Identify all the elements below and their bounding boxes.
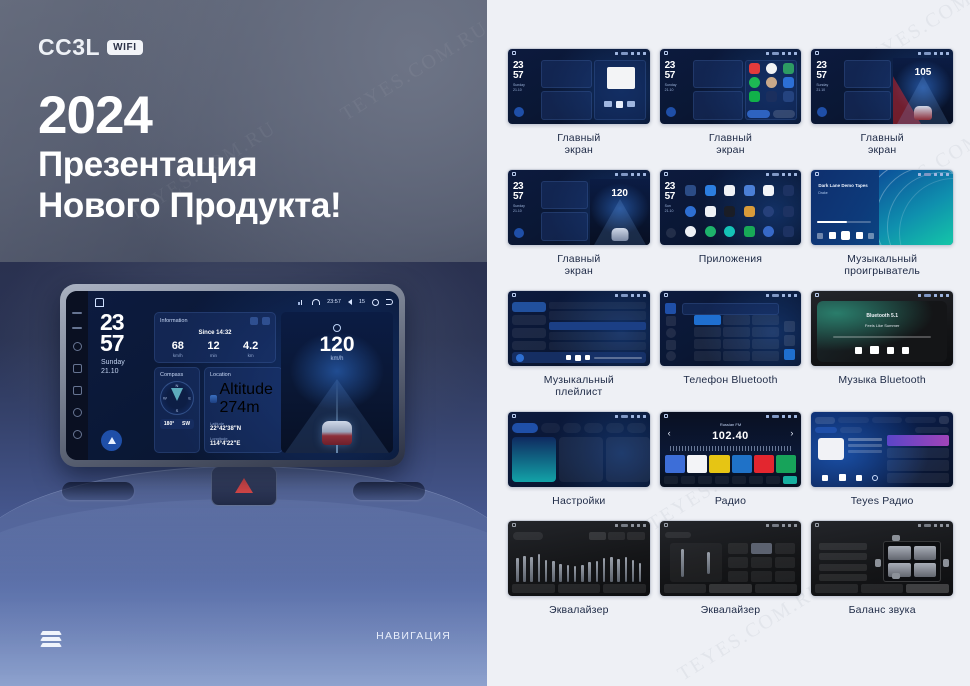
tab-fader[interactable] (709, 584, 752, 593)
dashboard-curve-secondary (0, 499, 487, 686)
headline-line2: Нового Продукта! (38, 185, 341, 226)
preset-2[interactable] (687, 455, 707, 473)
nav-genres[interactable] (838, 417, 869, 423)
gallery-item[interactable]: Эквалайзер (507, 520, 651, 629)
app-icon-clock[interactable] (705, 206, 716, 217)
list-item[interactable] (887, 460, 949, 471)
next-icon[interactable] (856, 232, 863, 239)
app-icon-extra3[interactable] (783, 226, 794, 237)
gallery-item[interactable]: Dark Lane Demo Tapes Drake Музыкальныйпр… (810, 169, 954, 290)
home-icon (664, 523, 668, 527)
key-8[interactable] (723, 339, 750, 349)
app-icon-google[interactable] (685, 226, 696, 237)
screen-thumbnail-settings[interactable] (507, 411, 651, 488)
preset-3[interactable] (709, 455, 729, 473)
next-icon[interactable] (902, 347, 909, 354)
thumbnail-caption: Музыка Bluetooth (838, 374, 926, 386)
thumbnail-caption: Музыкальныйплейлист (544, 374, 614, 398)
preset-6[interactable] (776, 455, 796, 473)
compass-title: Compass (160, 372, 194, 378)
search-tab-icon[interactable] (666, 328, 676, 338)
speed-value: 120 (281, 334, 393, 355)
fader-slider[interactable] (681, 549, 684, 576)
preset-button[interactable] (589, 532, 606, 540)
home-icon (664, 293, 668, 297)
information-widget[interactable]: Information Since 14:32 (154, 312, 276, 363)
status-bar: 23:57 15 (95, 296, 393, 308)
compass-dial: N S W E (160, 381, 194, 415)
app-icon-music-player[interactable] (724, 226, 735, 237)
stop-icon[interactable] (887, 347, 894, 354)
tab-wlan[interactable] (512, 423, 538, 433)
head-unit-device: 23:57 15 23 57 Sunday (60, 284, 405, 467)
list-item[interactable] (887, 473, 949, 484)
player-controls[interactable] (817, 231, 874, 240)
radio-toolbar[interactable] (664, 476, 798, 484)
list-item[interactable] (887, 435, 949, 446)
previous-icon[interactable] (822, 475, 828, 481)
equalizer-tabs[interactable] (815, 584, 949, 593)
altitude-row: Altitude 274m (210, 381, 277, 417)
balance-right-button[interactable] (943, 559, 949, 567)
balance-down-button[interactable] (892, 573, 900, 579)
gallery-item[interactable]: 23 57 Sunday21.10 Главныйэкран (507, 48, 651, 169)
headlight-icon (333, 324, 341, 332)
dial-keypad[interactable] (694, 315, 780, 361)
next-station-button[interactable]: › (790, 428, 793, 438)
teyes-player-controls[interactable] (817, 474, 883, 481)
next-icon[interactable] (856, 475, 862, 481)
preset-button[interactable] (608, 532, 625, 540)
sidebar-item-tracks[interactable] (512, 302, 546, 312)
position-rear[interactable] (819, 564, 867, 571)
app-icon-calculator[interactable] (744, 185, 755, 196)
mute-hw-button[interactable] (72, 327, 82, 329)
hazard-light-button[interactable] (211, 466, 277, 506)
settings-button[interactable] (783, 476, 797, 484)
gallery-item[interactable]: Музыкальныйплейлист (507, 290, 651, 411)
key-4[interactable] (694, 327, 721, 337)
backspace-icon[interactable] (784, 335, 795, 346)
album-art (516, 354, 524, 362)
key-9[interactable] (752, 339, 779, 349)
gallery-item[interactable]: Эквалайзер (659, 520, 803, 629)
sidebar-item-favorites[interactable] (512, 328, 546, 338)
tab-balance[interactable] (906, 584, 949, 593)
app-icon-avi[interactable] (685, 185, 696, 196)
stop-icon[interactable] (839, 474, 846, 481)
favorite-icon[interactable] (872, 475, 878, 481)
back-icon[interactable] (386, 299, 393, 305)
station-list[interactable] (887, 435, 949, 483)
balance-left-button[interactable] (875, 559, 881, 567)
volume-up-hw-button[interactable] (73, 408, 82, 417)
band-slider[interactable] (545, 560, 548, 583)
gallery-item[interactable]: Телефон Bluetooth (659, 290, 803, 411)
trip-stat: 12 min (207, 340, 219, 358)
play-pause-icon[interactable] (870, 346, 879, 354)
pause-icon[interactable] (575, 355, 581, 361)
headline-block: 2024 Презентация Нового Продукта! (38, 88, 341, 226)
list-item[interactable] (549, 322, 646, 330)
af-button[interactable] (766, 476, 780, 484)
teyes-radio-topnav[interactable] (815, 416, 949, 424)
sidebar-item-albums[interactable] (512, 341, 546, 351)
screen-thumbnail-playlist[interactable] (507, 290, 651, 367)
thumbnail-caption: Телефон Bluetooth (683, 374, 777, 386)
tab-eq[interactable] (512, 584, 555, 593)
widget-column: Information Since 14:32 (154, 312, 276, 453)
shuffle-icon[interactable] (817, 233, 823, 239)
thumbnail-caption: Баланс звука (849, 604, 916, 616)
contacts-tab-icon[interactable] (666, 316, 676, 326)
gallery-item[interactable]: Bluetooth 5.1 Feels Like Summer Музыка B… (810, 290, 954, 411)
position-driver[interactable] (819, 543, 867, 550)
gallery-item[interactable]: 23 57 Sunday21.10 105 Главныйэкран (810, 48, 954, 169)
status-volume-level: 15 (359, 299, 365, 305)
driving-view-widget[interactable]: 120 km/h (281, 312, 393, 453)
playlist-sidebar[interactable] (512, 302, 546, 350)
track-list[interactable] (549, 302, 646, 350)
bt-player-controls[interactable] (811, 346, 953, 354)
volume-icon (348, 299, 352, 305)
dialpad-tab-icon[interactable] (665, 303, 676, 314)
band-slider[interactable] (538, 554, 541, 582)
band-slider[interactable] (632, 560, 635, 583)
teyes-radio-filters[interactable] (815, 426, 949, 433)
altitude-value: 274m (220, 399, 260, 416)
app-icon-extra1[interactable] (783, 185, 794, 196)
band-slider[interactable] (639, 563, 642, 583)
position-front[interactable] (819, 553, 867, 560)
call-log-tab-icon[interactable] (666, 340, 676, 350)
headline-year: 2024 (38, 88, 341, 144)
screen-thumbnail-sound-balance[interactable] (810, 520, 954, 597)
thumb-clock-hours: 23 (665, 182, 675, 191)
thumb-clock-minutes: 57 (513, 71, 523, 80)
tab-eq[interactable] (815, 584, 858, 593)
gallery-item[interactable]: 23 57 Sunday21.10 (659, 48, 803, 169)
volume-down-hw-button[interactable] (73, 430, 82, 439)
band-slider[interactable] (559, 564, 562, 583)
key-hash[interactable] (752, 351, 779, 361)
thumb-clock-hours: 23 (816, 61, 826, 70)
preset-1[interactable] (665, 455, 685, 473)
band-slider[interactable] (574, 566, 577, 582)
list-item[interactable] (887, 448, 949, 459)
thumbnail-caption: Teyes Радио (851, 495, 914, 507)
previous-icon[interactable] (566, 355, 571, 360)
screen-thumbnail-equalizer-bands[interactable] (507, 520, 651, 597)
filter-rock[interactable] (840, 427, 862, 433)
loc-button[interactable] (732, 476, 746, 484)
repeat-icon[interactable] (868, 233, 874, 239)
seat-position-list[interactable] (819, 541, 867, 582)
sound-effect-buttons[interactable] (728, 543, 796, 582)
hardware-button-rail[interactable] (66, 291, 88, 460)
screen-thumbnail-music-player[interactable]: Dark Lane Demo Tapes Drake (810, 169, 954, 246)
head-unit-screen[interactable]: 23:57 15 23 57 Sunday (88, 291, 399, 460)
thumbnail-caption: Эквалайзер (701, 604, 761, 616)
key-2[interactable] (723, 315, 750, 325)
bluetooth-version-label: Bluetooth 5.1 (811, 313, 953, 319)
filter-favorites[interactable] (915, 427, 949, 433)
screen-thumbnail-home-drive[interactable]: 23 57 Sunday21.10 105 (810, 48, 954, 125)
preset-5[interactable] (754, 455, 774, 473)
power-hw-button[interactable] (73, 342, 82, 351)
settings-tabs[interactable] (512, 423, 646, 433)
gallery-item[interactable]: Настройки (507, 411, 651, 520)
compass-heading: 180° (164, 421, 174, 427)
trip-since-label: Since 14:32 (160, 330, 270, 336)
screen-thumbnail-bluetooth-phone[interactable] (659, 290, 803, 367)
location-widget[interactable]: Location Altitude 274m (204, 367, 283, 453)
band-slider[interactable] (552, 561, 555, 582)
band-slider[interactable] (581, 565, 584, 583)
band-slider[interactable] (588, 562, 591, 582)
key-star[interactable] (694, 351, 721, 361)
settings-tab-icon[interactable] (666, 351, 676, 361)
home-icon (815, 51, 819, 55)
gear-icon[interactable] (372, 299, 379, 306)
effect-button[interactable] (775, 571, 796, 582)
thumb-clock-hours: 23 (513, 182, 523, 191)
nav-all[interactable] (815, 417, 835, 424)
gallery-item[interactable]: Russian FM 102.40 ‹ › (659, 411, 803, 520)
tab-balance[interactable] (755, 584, 798, 593)
app-icon-maps[interactable] (705, 226, 716, 237)
search-button[interactable] (681, 476, 695, 484)
home-icon[interactable] (95, 298, 104, 307)
filter-pop[interactable] (815, 427, 837, 433)
tab-personal[interactable] (606, 423, 625, 433)
tab-display[interactable] (584, 423, 603, 433)
effect-button[interactable] (751, 557, 772, 568)
fader-slider[interactable] (707, 552, 710, 575)
nav-favorites[interactable] (905, 417, 936, 423)
compass-widget[interactable]: Compass N S W E (154, 367, 200, 453)
thumb-clock-hours: 23 (665, 61, 675, 70)
thumbnail-caption: Радио (715, 495, 746, 507)
equalizer-tabs[interactable] (664, 584, 798, 593)
screen-thumbnail-bluetooth-music[interactable]: Bluetooth 5.1 Feels Like Summer (810, 290, 954, 367)
seek-bar[interactable] (594, 357, 642, 359)
app-icon-bluetooth[interactable] (705, 185, 716, 196)
effect-button-active[interactable] (751, 543, 772, 554)
balance-up-button[interactable] (892, 535, 900, 541)
effect-button[interactable] (775, 543, 796, 554)
home-icon (512, 172, 516, 176)
position-all[interactable] (819, 574, 867, 581)
key-3[interactable] (752, 315, 779, 325)
tab-eq[interactable] (664, 584, 707, 593)
fader-sliders[interactable] (670, 543, 722, 582)
key-7[interactable] (694, 339, 721, 349)
eq-preset-buttons[interactable] (589, 532, 645, 540)
band-slider[interactable] (610, 557, 613, 582)
phone-number-field[interactable] (682, 303, 780, 315)
preset-4[interactable] (732, 455, 752, 473)
home-icon (815, 172, 819, 176)
band-slider[interactable] (625, 557, 628, 583)
location-title: Location (210, 372, 277, 378)
pause-icon[interactable] (841, 231, 850, 240)
previous-icon[interactable] (855, 347, 862, 354)
phone-sidebar[interactable] (664, 302, 678, 362)
air-vent-right (353, 482, 425, 500)
key-0[interactable] (723, 351, 750, 361)
band-slider[interactable] (530, 557, 533, 583)
speed-readout: 120 km/h (281, 324, 393, 362)
app-icon-extra2[interactable] (783, 206, 794, 217)
refresh-icon[interactable] (250, 317, 258, 325)
band-slider[interactable] (596, 561, 599, 583)
compass-east-label: E (188, 396, 191, 401)
call-icon[interactable] (784, 349, 795, 360)
compass-north-label: N (176, 383, 179, 388)
key-1[interactable] (694, 315, 721, 325)
band-slider[interactable] (567, 565, 570, 582)
screen-thumbnail-equalizer-faders[interactable] (659, 520, 803, 597)
wifi-icon (312, 299, 320, 305)
home-icon (664, 51, 668, 55)
sidebar-item-all[interactable] (512, 315, 546, 325)
hazard-triangle-icon (235, 478, 253, 493)
bt-track-title: Feels Like Summer (811, 323, 953, 328)
app-icon-gallery[interactable] (763, 206, 774, 217)
effect-button[interactable] (728, 571, 749, 582)
effect-button[interactable] (728, 557, 749, 568)
home-icon (512, 293, 516, 297)
speaker-front-right[interactable] (914, 546, 936, 560)
key-5[interactable] (723, 327, 750, 337)
band-slider[interactable] (523, 556, 526, 583)
gallery-item[interactable]: 23 57 Sunday21.10 120 Главныйэкран (507, 169, 651, 290)
app-icon-radio[interactable] (763, 226, 774, 237)
mirror-card[interactable] (606, 437, 650, 482)
back-icon (666, 228, 676, 238)
longitude-value: 114°4'22"E (210, 441, 277, 447)
longitude-row: Longitude 114°4'22"E (210, 436, 277, 447)
tab-balance[interactable] (603, 584, 646, 593)
information-actions[interactable] (250, 317, 270, 325)
layer-mid (40, 637, 62, 641)
band-button[interactable] (664, 476, 678, 484)
screen-thumbnail-home-speed[interactable]: 23 57 Sunday21.10 120 (507, 169, 651, 246)
speaker-rear-right[interactable] (914, 563, 936, 577)
home-hw-button[interactable] (73, 364, 82, 373)
carplay-card[interactable] (559, 437, 603, 482)
screen-thumbnail-home-media[interactable]: 23 57 Sunday21.10 (507, 48, 651, 125)
navigation-label: НАВИГАЦИЯ (376, 630, 451, 642)
screen-thumbnail-teyes-radio[interactable] (810, 411, 954, 488)
compass-south-label: S (176, 408, 179, 413)
compass-needle-icon (171, 388, 183, 401)
menu-hw-button[interactable] (72, 312, 82, 314)
tab-sound[interactable] (541, 423, 560, 433)
frequency-scale[interactable] (670, 446, 792, 451)
effect-button[interactable] (775, 557, 796, 568)
screenshot-grid: 23 57 Sunday21.10 Главныйэкран (507, 48, 954, 630)
app-icon-bluetooth-music[interactable] (724, 185, 735, 196)
thumb-clock-minutes: 57 (816, 71, 826, 80)
equalizer-band-sliders[interactable] (516, 543, 642, 582)
list-item[interactable] (549, 311, 646, 319)
now-playing-bar[interactable] (512, 352, 646, 363)
favorite-icon[interactable] (784, 321, 795, 332)
trip-stat: 68 km/h (172, 340, 184, 358)
tab-fader[interactable] (558, 584, 601, 593)
trip-stat-unit: km (243, 353, 258, 358)
next-icon[interactable] (585, 355, 590, 360)
app-icon-file-manager[interactable] (744, 206, 755, 217)
effect-button[interactable] (751, 571, 772, 582)
previous-icon[interactable] (829, 232, 836, 239)
mountain-icon (210, 395, 217, 403)
head-unit-bezel: 23:57 15 23 57 Sunday (66, 291, 399, 460)
app-icon-camera[interactable] (763, 185, 774, 196)
screen-thumbnail-home-apps[interactable]: 23 57 Sunday21.10 (659, 48, 803, 125)
screen-thumbnail-radio[interactable]: Russian FM 102.40 ‹ › (659, 411, 803, 488)
equalizer-tabs[interactable] (512, 584, 646, 593)
gallery-item[interactable]: Teyes Радио (810, 411, 954, 520)
dial-actions[interactable] (782, 319, 797, 361)
effect-button[interactable] (728, 543, 749, 554)
thumb-clock-hours: 23 (513, 61, 523, 70)
gallery-item[interactable]: Баланс звука (810, 520, 954, 629)
band-slider[interactable] (516, 558, 519, 582)
gallery-item[interactable]: 23 57 Sun21.10 (659, 169, 803, 290)
tab-common[interactable] (563, 423, 582, 433)
trip-stat-unit: min (207, 353, 219, 358)
st-button[interactable] (749, 476, 763, 484)
tab-fader[interactable] (861, 584, 904, 593)
band-slider[interactable] (617, 559, 620, 582)
home-icon (512, 523, 516, 527)
list-item[interactable] (549, 332, 646, 340)
expand-icon[interactable] (262, 317, 270, 325)
band-slider[interactable] (603, 558, 606, 582)
tab-system[interactable] (627, 423, 646, 433)
screen-thumbnail-apps[interactable]: 23 57 Sun21.10 (659, 169, 803, 246)
signal-icon (298, 299, 305, 305)
app-grid[interactable] (682, 181, 798, 241)
station-presets[interactable] (665, 455, 797, 473)
close-icon[interactable] (939, 416, 949, 424)
app-icon-dvr[interactable] (724, 206, 735, 217)
watermark: TEYES.COM.RU (337, 17, 487, 126)
nav-countries[interactable] (872, 417, 903, 423)
clock-day: Sunday (101, 359, 149, 368)
eq-button[interactable] (715, 476, 729, 484)
preset-button[interactable] (627, 532, 644, 540)
navigation-launch-button[interactable] (101, 430, 122, 451)
home-icon (815, 523, 819, 527)
preset-name-field[interactable] (513, 532, 543, 540)
back-hw-button[interactable] (73, 386, 82, 395)
app-icon-play-store[interactable] (744, 226, 755, 237)
list-button[interactable] (698, 476, 712, 484)
thumbnail-caption: Главныйэкран (861, 132, 904, 156)
list-item[interactable] (549, 342, 646, 350)
information-header: Information (160, 317, 270, 325)
prev-station-button[interactable]: ‹ (668, 428, 671, 438)
speaker-front-left[interactable] (888, 546, 910, 560)
wlan-card[interactable] (512, 437, 556, 482)
trip-stat: 4.2 km (243, 340, 258, 358)
app-icon-chrome[interactable] (685, 206, 696, 217)
key-6[interactable] (752, 327, 779, 337)
